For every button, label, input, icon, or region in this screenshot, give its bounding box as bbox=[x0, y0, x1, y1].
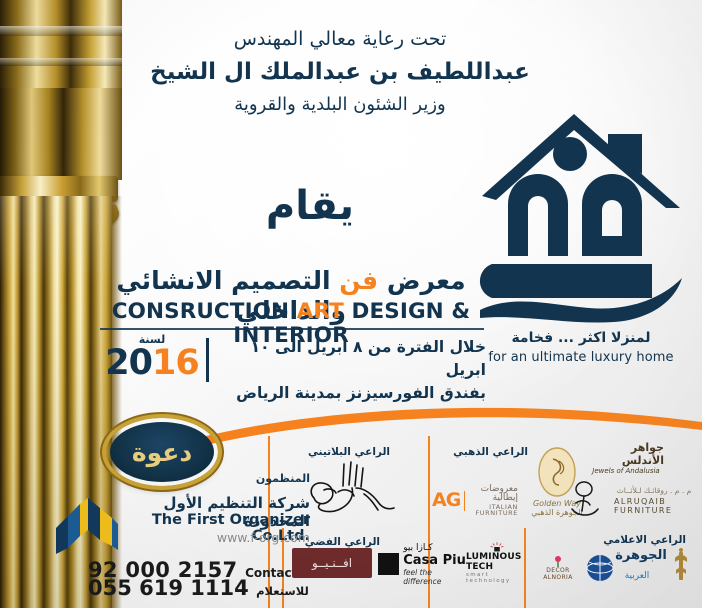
house-monogram-icon bbox=[478, 112, 684, 328]
jewels-text-arabic: جواهر الأندلس bbox=[588, 441, 664, 467]
casa-piu-slogan: feel the difference bbox=[403, 568, 470, 586]
luminous-slogan: smart technology bbox=[466, 572, 528, 584]
silver-sponsor-logo-afniyo: افــنـيــو bbox=[292, 548, 372, 578]
event-dates-line-1: خلال الفترة من ٨ ابريل الى ١٠ ابريل bbox=[214, 336, 486, 382]
media-sponsor-logo-aljawhara: الجوهرة bbox=[618, 544, 664, 566]
casa-piu-text-arabic: كـازا بيو bbox=[403, 543, 470, 553]
ag-divider bbox=[464, 491, 465, 511]
column-capital bbox=[0, 88, 122, 180]
phone-2-label: للاستعلام bbox=[256, 584, 309, 598]
arabic-calligraphy-icon bbox=[294, 458, 402, 520]
ornament-icon bbox=[672, 548, 690, 584]
ag-monogram: AG bbox=[432, 491, 460, 511]
silver-sponsor-logo-luminous-tech: LUMINOUS TECH smart technology bbox=[466, 542, 528, 584]
gold-sponsor-logo-jewels-andalusia: جواهر الأندلس Jewels of Andalusia bbox=[588, 440, 664, 476]
patronage-line-2: عبداللطيف بن عبدالملك ال الشيخ bbox=[140, 54, 540, 90]
gold-sponsor-label: الراعي الذهبي bbox=[438, 446, 528, 458]
decor-alnoria-text: DECOR ALNORIA bbox=[534, 567, 582, 581]
year-number: 2016 bbox=[104, 346, 200, 380]
year-suffix: 16 bbox=[152, 343, 199, 383]
aljawhara-text: الجوهرة bbox=[615, 548, 667, 563]
event-logo: لمنزلا اكثر ... فخامة for an ultimate lu… bbox=[478, 112, 684, 378]
event-poster: تحت رعاية معالي المهندس عبداللطيف بن عبد… bbox=[0, 0, 702, 608]
alruqaib-mark-icon bbox=[556, 478, 612, 522]
casa-piu-text-english: Casa Piu bbox=[403, 553, 470, 568]
title-en-highlight: ART bbox=[297, 299, 344, 324]
event-venue-line: بفندق الفورسيزنز بمدينة الرياض bbox=[214, 382, 486, 405]
flower-icon bbox=[551, 555, 565, 567]
alruqaib-text-arabic: م . م . روقائـك لـلأثــاث bbox=[617, 486, 691, 495]
title-divider bbox=[100, 328, 484, 330]
year-prefix: 20 bbox=[105, 343, 152, 383]
silver-sponsor-label: الراعي الفضي bbox=[290, 536, 380, 548]
media-sponsor-logo-decor-alnoria: DECOR ALNORIA bbox=[534, 550, 582, 586]
gold-sponsor-logo-ag: AG معروضات إيطالية ITALIAN FURNITURE bbox=[432, 484, 518, 518]
patronage-block: تحت رعاية معالي المهندس عبداللطيف بن عبد… bbox=[140, 24, 540, 120]
jewels-text-english: Jewels of Andalusia bbox=[592, 467, 659, 475]
ag-text-english: ITALIAN FURNITURE bbox=[469, 504, 518, 518]
alruqaib-text-english: ALRUQAIB FURNITURE bbox=[614, 497, 694, 515]
phone-2-number: 055 619 1114 bbox=[88, 576, 249, 600]
globe-icon bbox=[585, 553, 615, 583]
casa-piu-mark-icon bbox=[378, 553, 399, 575]
title-en-part1: CONSRUCTION bbox=[112, 299, 297, 324]
logo-tagline-english: for an ultimate luxury home bbox=[478, 350, 684, 365]
silver-sponsor-logo-casa-piu: كـازا بيو Casa Piu feel the difference bbox=[378, 544, 470, 584]
title-ar-highlight: فن bbox=[339, 266, 378, 295]
patronage-line-1: تحت رعاية معالي المهندس bbox=[140, 24, 540, 54]
held-label: يقام bbox=[250, 186, 370, 226]
media-sponsor-logo-ornament bbox=[668, 546, 694, 586]
alarabia-text: العربية bbox=[625, 571, 650, 581]
contact-phone-secondary: 055 619 1114 للاستعلام bbox=[88, 576, 318, 600]
luminous-text-english: LUMINOUS TECH bbox=[466, 552, 528, 572]
logo-tagline-arabic: لمنزلا اكثر ... فخامة bbox=[478, 330, 684, 346]
year-divider bbox=[206, 338, 209, 382]
luminous-lamp-icon bbox=[484, 542, 510, 552]
event-year-badge: لسنة 2016 bbox=[104, 334, 200, 386]
ag-text-arabic: معروضات إيطالية bbox=[469, 485, 518, 504]
first-organizer-logo-icon bbox=[54, 492, 120, 554]
column-abacus bbox=[0, 0, 122, 88]
media-sponsor-logo-alarabia: العربية bbox=[612, 566, 662, 586]
gold-sponsor-logo-alruqaib: م . م . روقائـك لـلأثــاث ALRUQAIB FURNI… bbox=[614, 478, 694, 522]
platinum-sponsor-logo bbox=[292, 456, 404, 522]
organizer-website: www.f-org.com bbox=[120, 530, 310, 545]
event-dates-block: خلال الفترة من ٨ ابريل الى ١٠ ابريل بفند… bbox=[214, 336, 486, 405]
invitation-badge-label: دعوة bbox=[132, 440, 192, 465]
afniyo-text-arabic: افــنـيــو bbox=[312, 556, 352, 570]
title-ar-prefix: معرض bbox=[378, 266, 465, 295]
